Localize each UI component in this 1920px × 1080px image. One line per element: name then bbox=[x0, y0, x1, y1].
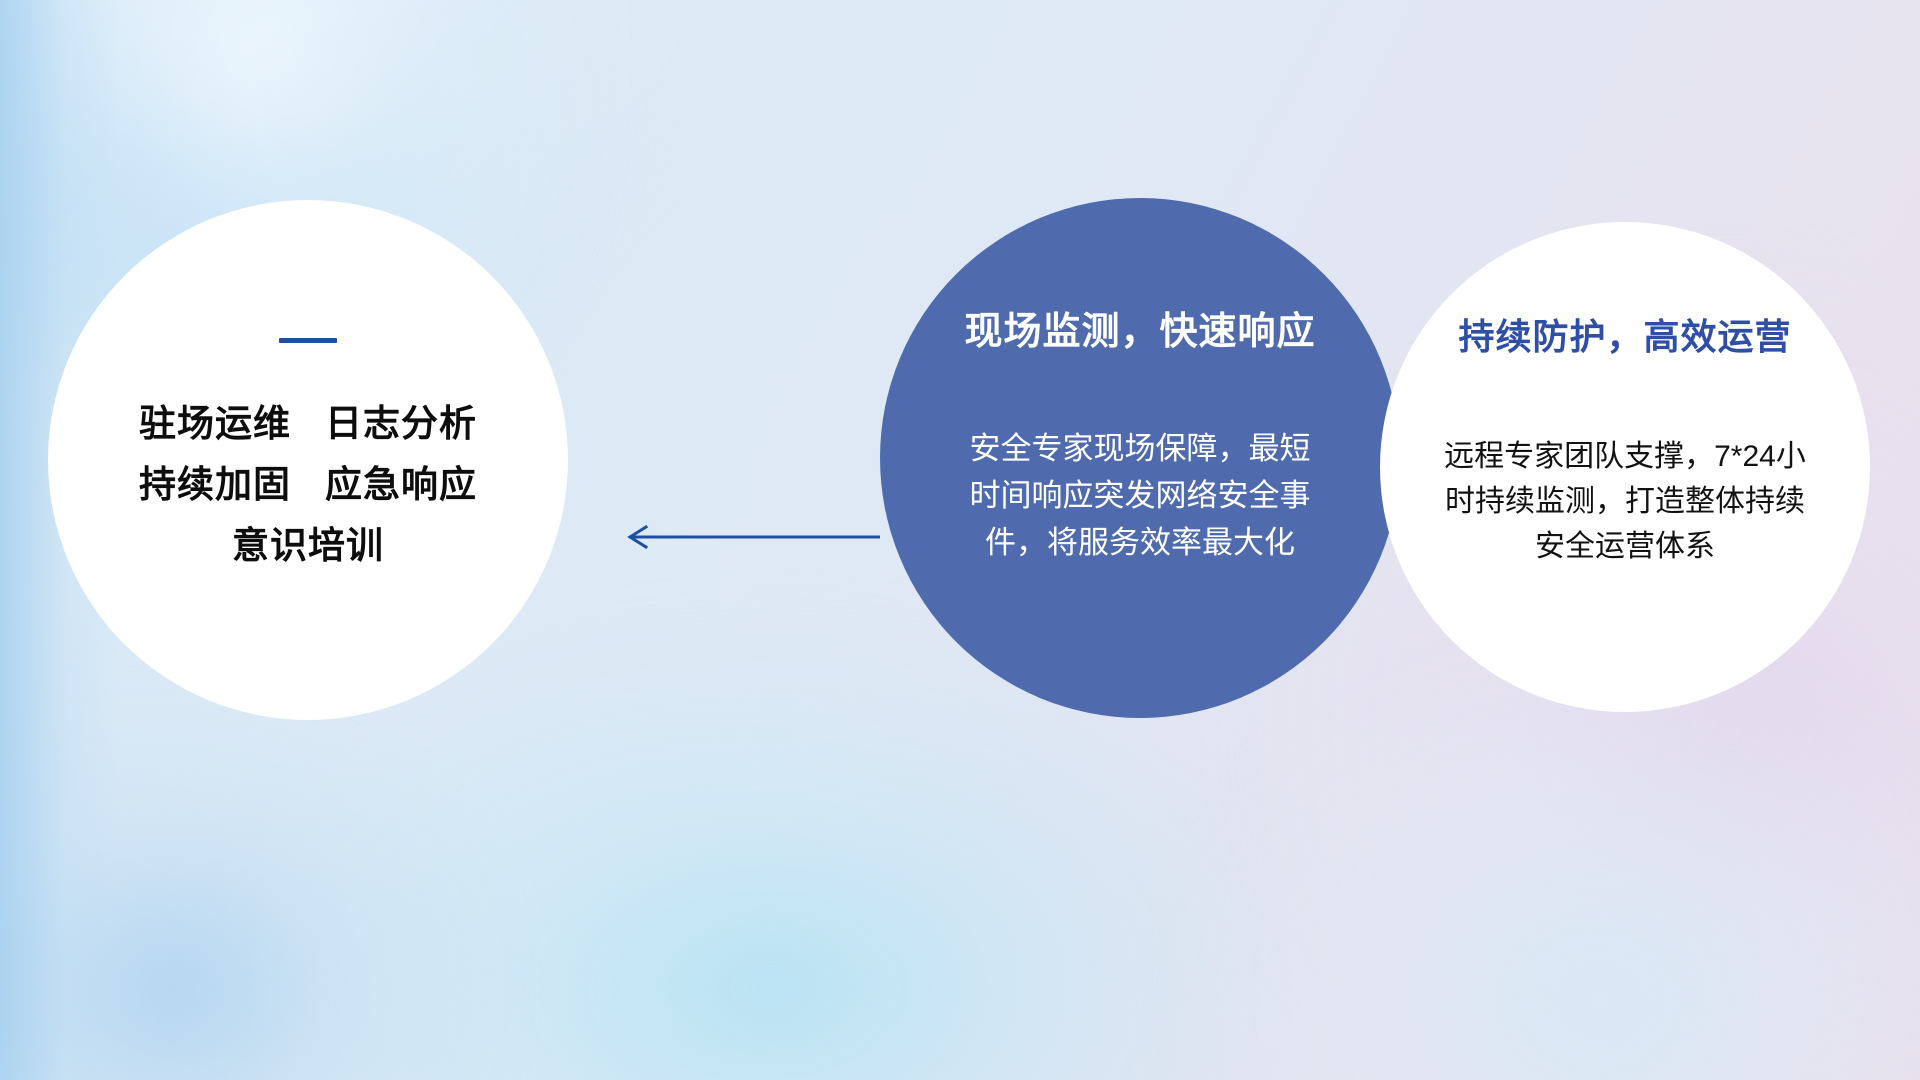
service-circle-remote-body: 远程专家团队支撑，7*24小时持续监测，打造整体持续安全运营体系 bbox=[1433, 434, 1817, 569]
capability-tag-awareness-training: 意识培训 bbox=[232, 527, 384, 566]
capability-tag-onsite-ops: 驻场运维 bbox=[139, 405, 291, 444]
divider-rule-icon bbox=[279, 338, 337, 343]
capability-circle-left[interactable]: 驻场运维日志分析 持续加固应急响应 意识培训 bbox=[48, 200, 568, 720]
service-circle-onsite-body: 安全专家现场保障，最短时间响应突发网络安全事件，将服务效率最大化 bbox=[964, 425, 1316, 566]
slide-canvas: 驻场运维日志分析 持续加固应急响应 意识培训 现场监测，快速响应 安全专家现场保… bbox=[0, 0, 1920, 1080]
capability-line-3: 意识培训 bbox=[232, 527, 384, 566]
service-circle-onsite[interactable]: 现场监测，快速响应 安全专家现场保障，最短时间响应突发网络安全事件，将服务效率最… bbox=[880, 198, 1400, 718]
service-circle-remote[interactable]: 持续防护，高效运营 远程专家团队支撑，7*24小时持续监测，打造整体持续安全运营… bbox=[1380, 222, 1870, 712]
capability-line-1: 驻场运维日志分析 bbox=[139, 405, 477, 444]
arrow-left-icon bbox=[612, 524, 880, 550]
capability-tag-log-analysis: 日志分析 bbox=[325, 405, 477, 444]
service-circle-onsite-title: 现场监测，快速响应 bbox=[964, 300, 1315, 355]
capability-tag-continuous-hardening: 持续加固 bbox=[139, 466, 291, 505]
capability-line-2: 持续加固应急响应 bbox=[139, 466, 477, 505]
capability-list: 驻场运维日志分析 持续加固应急响应 意识培训 bbox=[139, 405, 477, 566]
capability-tag-emergency-response: 应急响应 bbox=[325, 466, 477, 505]
service-circle-remote-title: 持续防护，高效运营 bbox=[1458, 308, 1791, 360]
